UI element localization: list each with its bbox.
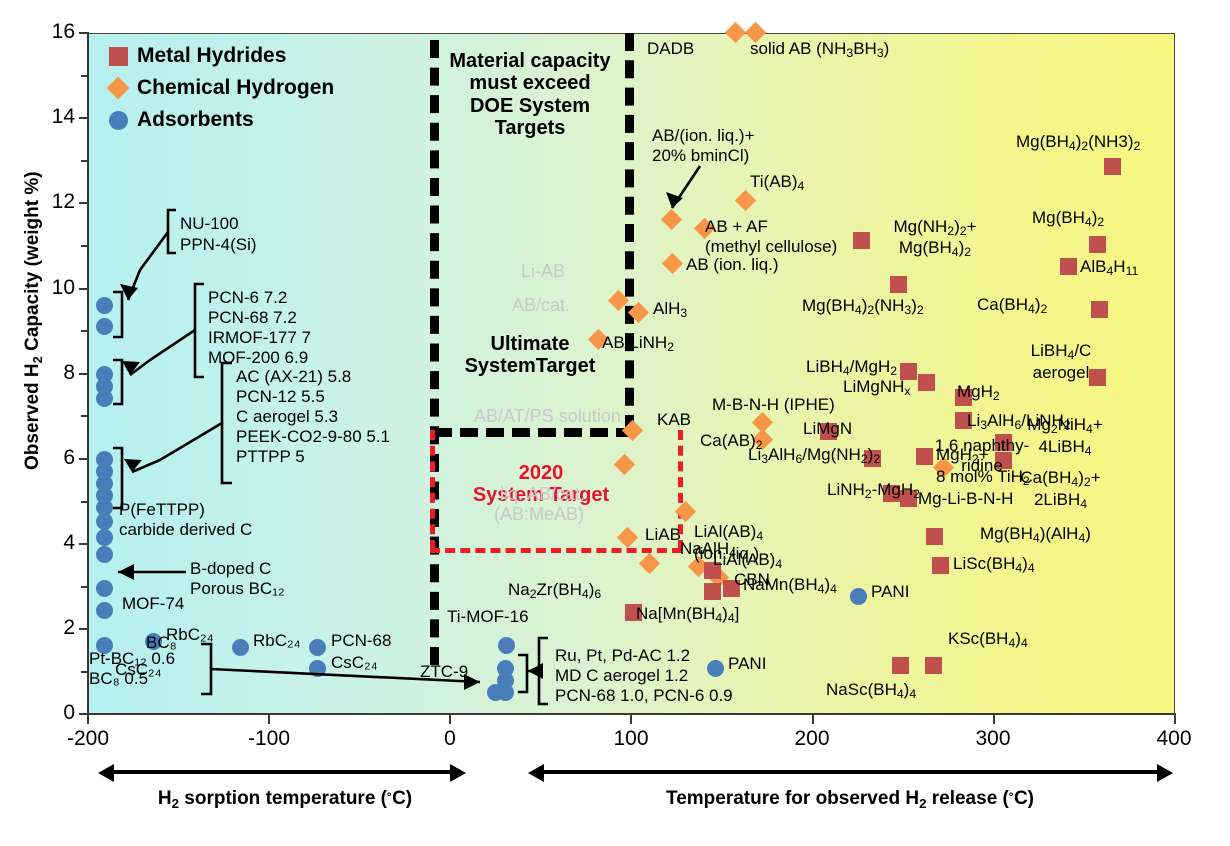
label-rbc24-a: RbC₂₄ (166, 626, 214, 643)
point-csc24-b[interactable] (309, 660, 326, 677)
ghost-label-li-ab: Li-AB (521, 262, 565, 280)
y-tick-8 (79, 373, 88, 375)
label-ztc-9: ZTC-9 (420, 663, 468, 680)
square-marker-icon (106, 47, 130, 66)
callout-group-f: Pt-BC₁₂ 0.6 BC₈ 0.5 (149, 649, 175, 689)
y-tick-16 (79, 32, 88, 34)
point-bc8[interactable] (96, 546, 113, 563)
label-alh3: AlH3 (653, 300, 687, 320)
y-tick-10 (79, 288, 88, 290)
point-mg-bh4-alh4[interactable] (926, 528, 943, 545)
point-b-doped-c[interactable] (96, 580, 113, 597)
legend-label-metal-hydrides: Metal Hydrides (137, 44, 286, 68)
target-2020-box-bottom (430, 548, 682, 553)
y-label-4: 4 (20, 531, 75, 555)
label-pani-a: PANI (871, 583, 909, 600)
point-nasc-bh4-4[interactable] (892, 657, 909, 674)
x-label--200: -200 (48, 727, 128, 751)
label-ca-bh4-2-2libh4: Ca(BH4)2+ 2LiBH4 (1003, 468, 1118, 511)
left-axis-arrow-head-right (450, 764, 466, 782)
label-mg-bh4-2-nh3-2: Mg(BH4)2(NH3)2 (802, 297, 924, 317)
label-mg-nh2-2-mg-bh4-2: Mg(NH2)2+ Mg(BH4)2 (876, 217, 994, 260)
left-axis-arrow-line (114, 770, 450, 774)
y-tick-6 (79, 458, 88, 460)
point-irmof-177[interactable] (96, 390, 113, 407)
point-mg-bh4-2-nh3-2-a[interactable] (890, 276, 907, 293)
callout-group-d: P(FeTTPP) carbide derived C (119, 500, 252, 540)
point-mg-bh4-2-nh3-2-top[interactable] (1104, 158, 1121, 175)
point-nu-100[interactable] (96, 297, 113, 314)
chart-canvas: 16 14 12 10 8 6 4 2 0 Observed H2 Capaci… (0, 0, 1230, 846)
target-2020-box-left (430, 430, 435, 550)
label-mg-bh4-2: Mg(BH4)2 (1032, 209, 1104, 229)
x-label-400: 400 (1134, 727, 1214, 751)
callout-group-c: AC (AX-21) 5.8 PCN-12 5.5 C aerogel 5.3 … (236, 367, 390, 467)
legend: Metal Hydrides Chemical Hydrogen Adsorbe… (106, 40, 334, 136)
point-pcn-68-b[interactable] (309, 639, 326, 656)
label-rbc24-b: RbC₂₄ (253, 632, 301, 649)
y-tick-9 (81, 330, 88, 332)
label-ti-mof-16: Ti-MOF-16 (447, 608, 529, 625)
callout-group-a: NU-100 PPN-4(Si) (180, 213, 257, 256)
y-tick-11 (81, 245, 88, 247)
point-mof-74[interactable] (96, 602, 113, 619)
ghost-label-ab-at-ps: AB/AT/PS solution (474, 407, 621, 425)
x-tick--200 (87, 715, 89, 724)
y-tick-7 (81, 415, 88, 417)
ultimate-target-line (434, 428, 634, 437)
x-tick--100 (268, 715, 270, 724)
label-nasc-bh4-4: NaSc(BH4)4 (826, 681, 916, 701)
x-tick-400 (1174, 715, 1176, 724)
x-label--100: -100 (229, 727, 309, 751)
y-tick-1 (81, 671, 88, 673)
legend-item-chemical-hydrogen[interactable]: Chemical Hydrogen (106, 72, 334, 104)
point-mg-nh2-2-mg-bh4-2[interactable] (853, 232, 870, 249)
point-ksc-bh4-4[interactable] (925, 657, 942, 674)
y-tick-2 (79, 628, 88, 630)
y-label-0: 0 (20, 701, 75, 725)
label-ksc-bh4-4: KSc(BH4)4 (948, 630, 1028, 650)
x-label-200: 200 (772, 727, 852, 751)
label-ca-bh4-2: Ca(BH4)2 (977, 296, 1047, 316)
point-ca-bh4-2[interactable] (1091, 301, 1108, 318)
diamond-marker-icon (106, 80, 130, 96)
right-axis-caption: Temperature for observed H2 release (˚C) (530, 788, 1170, 811)
label-alb4h11: AlB4H11 (1080, 258, 1138, 278)
x-label-100: 100 (591, 727, 671, 751)
label-ab-af: AB + AF (methyl cellulose) (705, 217, 837, 258)
point-ztc-9-d[interactable] (497, 684, 514, 701)
point-ti-mof-16[interactable] (498, 637, 515, 654)
label-kab: KAB (657, 411, 691, 428)
legend-label-chemical-hydrogen: Chemical Hydrogen (137, 76, 334, 100)
label-mg-li-b-n-h: Mg-Li-B-N-H (918, 490, 1013, 507)
label-lisc-bh4-4: LiSc(BH4)4 (953, 555, 1035, 575)
label-mg2nih4-4libh4: Mg2NiH4+ 4LiBH4 (1010, 415, 1120, 458)
point-ppn-4-si[interactable] (96, 318, 113, 335)
label-mof-74: MOF-74 (122, 595, 184, 612)
label-na-mn-bh4-4: Na[Mn(BH4)4] (636, 605, 739, 625)
point-na-mn-bh4-4[interactable] (704, 583, 721, 600)
label-ab-linh2: AB/LiNH2 (602, 334, 674, 354)
y-tick-5 (81, 501, 88, 503)
label-ti-ab4: Ti(AB)4 (750, 173, 804, 193)
y-tick-4 (79, 543, 88, 545)
label-mgh2: MgH2 (957, 383, 1000, 403)
legend-item-adsorbents[interactable]: Adsorbents (106, 104, 334, 136)
callout-group-g: Ru, Pt, Pd-AC 1.2 MD C aerogel 1.2 PCN-6… (555, 646, 733, 706)
ghost-label-liq-ab-cat: liq. AB/cat. (500, 485, 585, 503)
label-mg-bh4-2-nh3-2-top: Mg(BH4)2(NH3)2 (1016, 133, 1140, 153)
left-axis-arrow-head-left (98, 764, 114, 782)
label-csc24-b: CsC₂₄ (331, 654, 378, 671)
point-carbide-derived-c[interactable] (96, 529, 113, 546)
ghost-label-ab-meab: (AB:MeAB) (494, 505, 584, 523)
right-axis-arrow-head-left (528, 764, 544, 782)
label-solid-ab: solid AB (NH3BH3) (750, 40, 889, 60)
y-tick-3 (81, 586, 88, 588)
circle-marker-icon (106, 111, 130, 130)
y-label-16: 16 (20, 20, 75, 44)
label-liab: LiAB (645, 526, 681, 543)
point-rbc24-b[interactable] (232, 639, 249, 656)
x-tick-300 (993, 715, 995, 724)
x-tick-100 (630, 715, 632, 724)
label-dadb: DADB (647, 40, 694, 57)
point-limgnhx[interactable] (918, 374, 935, 391)
label-na2zr-bh4-6: Na2Zr(BH4)6 (508, 581, 601, 601)
label-ab-ionliq: AB (ion. liq.) (686, 256, 779, 273)
label-mg-bh4-alh4: Mg(BH4)(AlH4) (980, 525, 1091, 545)
legend-item-metal-hydrides[interactable]: Metal Hydrides (106, 40, 334, 72)
left-axis-caption: H2 sorption temperature (˚C) (100, 788, 470, 811)
label-libh4-mgh2: LiBH4/MgH2 (806, 358, 897, 378)
label-pcn-68: PCN-68 (331, 632, 391, 649)
x-tick-0 (449, 715, 451, 724)
material-capacity-note: Material capacity must exceed DOE System… (432, 50, 628, 140)
label-pani-b: PANI (728, 655, 766, 672)
label-ab-ionliq-bmincl: AB/(ion. liq.)+ 20% bminCl) (652, 126, 755, 167)
ghost-label-ab-cat: AB/cat. (512, 296, 570, 314)
x-tick-200 (812, 715, 814, 724)
y-tick-12 (79, 202, 88, 204)
legend-label-adsorbents: Adsorbents (137, 108, 254, 132)
callout-group-b: PCN-6 7.2 PCN-68 7.2 IRMOF-177 7 MOF-200… (208, 288, 311, 368)
y-axis-title: Observed H2 Capacity (weight %) (22, 70, 45, 470)
label-naalh4: NaAlH4 (680, 540, 736, 560)
y-label-2: 2 (20, 616, 75, 640)
point-lisc-bh4-4[interactable] (932, 557, 949, 574)
point-alb4h11[interactable] (1060, 258, 1077, 275)
label-linh2-mgh2: LiNH2-MgH2 (827, 481, 920, 501)
label-limgnhx: LiMgNHx (843, 378, 911, 398)
point-mg-bh4-2[interactable] (1089, 236, 1106, 253)
label-libh4-c-aerogel: LiBH4/C aerogel (1021, 341, 1101, 383)
y-tick-13 (81, 160, 88, 162)
point-p-fettpp[interactable] (96, 513, 113, 530)
y-tick-15 (81, 75, 88, 77)
y-tick-14 (79, 117, 88, 119)
right-axis-arrow-head-right (1157, 764, 1173, 782)
callout-group-e: B-doped C Porous BC₁₂ (190, 559, 285, 599)
point-pani-a[interactable] (850, 588, 867, 605)
label-m-b-n-h: M-B-N-H (IPHE) (712, 396, 835, 413)
label-li3alh6-mg-nh2-2: Li3AlH6/Mg(NH2)2 (748, 446, 880, 466)
right-axis-arrow-line (544, 770, 1157, 774)
label-namn-bh4-4: NaMn(BH4)4 (743, 576, 837, 596)
x-label-300: 300 (953, 727, 1033, 751)
label-limgn: LiMgN (803, 420, 852, 437)
x-label-0: 0 (410, 727, 490, 751)
